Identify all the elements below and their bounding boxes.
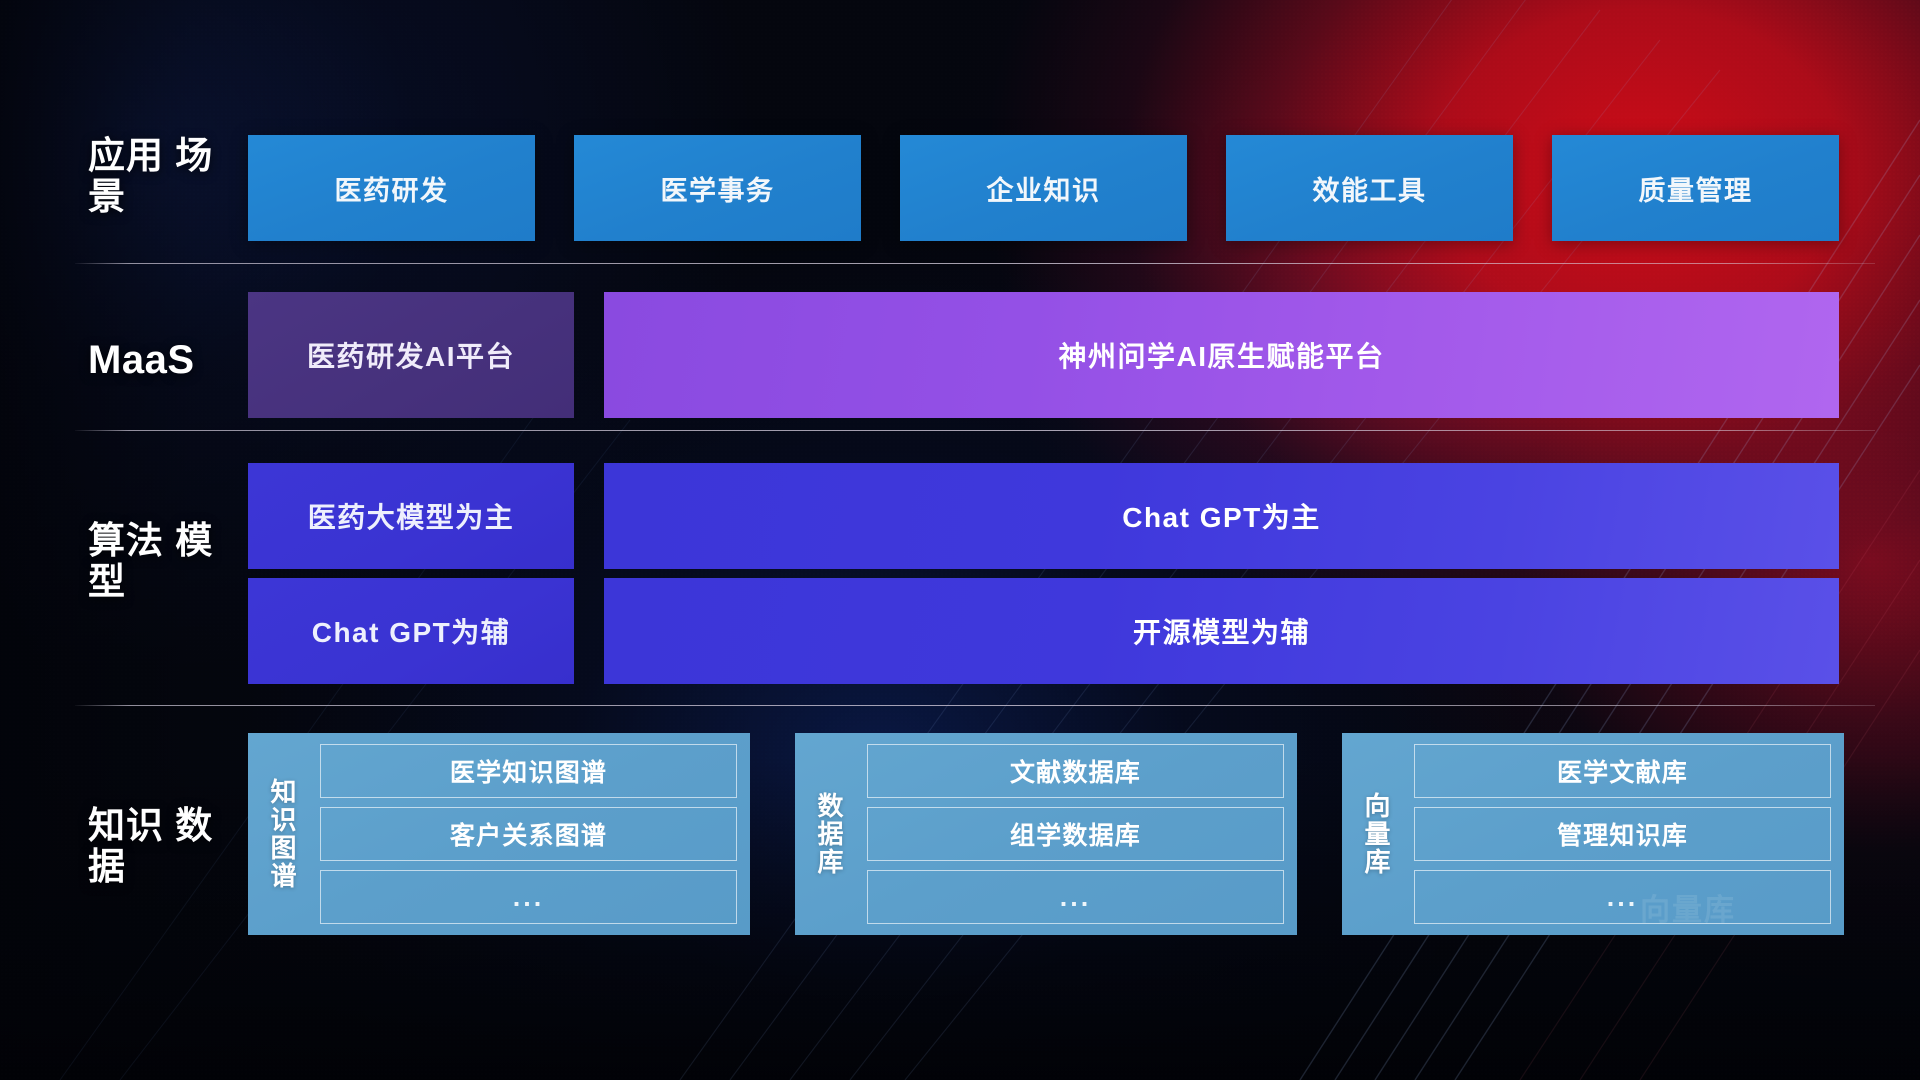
knowledge-group-knowledge-graph[interactable]: 知 识 图 谱 医学知识图谱 客户关系图谱 ...: [248, 733, 750, 935]
app-card-efficiency-tools[interactable]: 效能工具: [1226, 135, 1513, 241]
algo-card-label: 开源模型为辅: [1133, 611, 1310, 651]
knowledge-group-items: 医学知识图谱 客户关系图谱 ...: [320, 744, 737, 924]
row-label-algorithm-models: 算法 模型: [88, 520, 238, 603]
knowledge-item[interactable]: 管理知识库: [1414, 807, 1831, 861]
divider-after-application: [75, 263, 1875, 264]
algo-card-primary-domain-model[interactable]: 医药大模型为主: [248, 463, 574, 569]
knowledge-item[interactable]: 文献数据库: [867, 744, 1284, 798]
divider-after-maas: [75, 430, 1875, 431]
maas-card-drug-rd-ai-platform[interactable]: 医药研发AI平台: [248, 292, 574, 418]
algo-card-primary-chatgpt[interactable]: Chat GPT为主: [604, 463, 1839, 569]
knowledge-item-more[interactable]: ...: [320, 870, 737, 924]
row-label-maas: MaaS: [88, 338, 238, 383]
app-card-label: 效能工具: [1313, 169, 1427, 208]
maas-card-shenzhou-wenxue-platform[interactable]: 神州问学AI原生赋能平台: [604, 292, 1839, 418]
maas-card-label: 神州问学AI原生赋能平台: [1058, 335, 1384, 375]
knowledge-group-items: 文献数据库 组学数据库 ...: [867, 744, 1284, 924]
app-card-quality-management[interactable]: 质量管理: [1552, 135, 1839, 241]
divider-after-algorithm: [75, 705, 1875, 706]
algo-card-label: 医药大模型为主: [308, 496, 515, 536]
knowledge-item-more[interactable]: ...: [867, 870, 1284, 924]
maas-card-label: 医药研发AI平台: [307, 335, 515, 375]
app-card-label: 质量管理: [1639, 169, 1753, 208]
knowledge-group-database[interactable]: 数 据 库 文献数据库 组学数据库 ...: [795, 733, 1297, 935]
algo-card-label: Chat GPT为辅: [312, 611, 511, 651]
knowledge-group-title: 向 量 库: [1342, 792, 1414, 876]
knowledge-item[interactable]: 客户关系图谱: [320, 807, 737, 861]
app-card-label: 医学事务: [661, 169, 775, 208]
knowledge-group-vector-database[interactable]: 向 量 库 医学文献库 管理知识库 ...: [1342, 733, 1844, 935]
algo-card-secondary-chatgpt[interactable]: Chat GPT为辅: [248, 578, 574, 684]
slide-canvas: 应用 场景 医药研发 医学事务 企业知识 效能工具 质量管理 MaaS 医药研发…: [0, 0, 1920, 1080]
app-card-enterprise-knowledge[interactable]: 企业知识: [900, 135, 1187, 241]
app-card-label: 医药研发: [335, 169, 449, 208]
row-label-knowledge-data: 知识 数据: [88, 805, 238, 888]
app-card-drug-rd[interactable]: 医药研发: [248, 135, 535, 241]
app-card-medical-affairs[interactable]: 医学事务: [574, 135, 861, 241]
algo-card-label: Chat GPT为主: [1122, 496, 1321, 536]
knowledge-group-title: 知 识 图 谱: [248, 778, 320, 890]
knowledge-item[interactable]: 医学文献库: [1414, 744, 1831, 798]
knowledge-group-title: 数 据 库: [795, 792, 867, 876]
row-label-application-scenarios: 应用 场景: [88, 135, 238, 218]
algo-card-secondary-opensource[interactable]: 开源模型为辅: [604, 578, 1839, 684]
knowledge-item[interactable]: 组学数据库: [867, 807, 1284, 861]
app-card-label: 企业知识: [987, 169, 1101, 208]
knowledge-item[interactable]: 医学知识图谱: [320, 744, 737, 798]
knowledge-group-items: 医学文献库 管理知识库 ...: [1414, 744, 1831, 924]
knowledge-item-more[interactable]: ...: [1414, 870, 1831, 924]
